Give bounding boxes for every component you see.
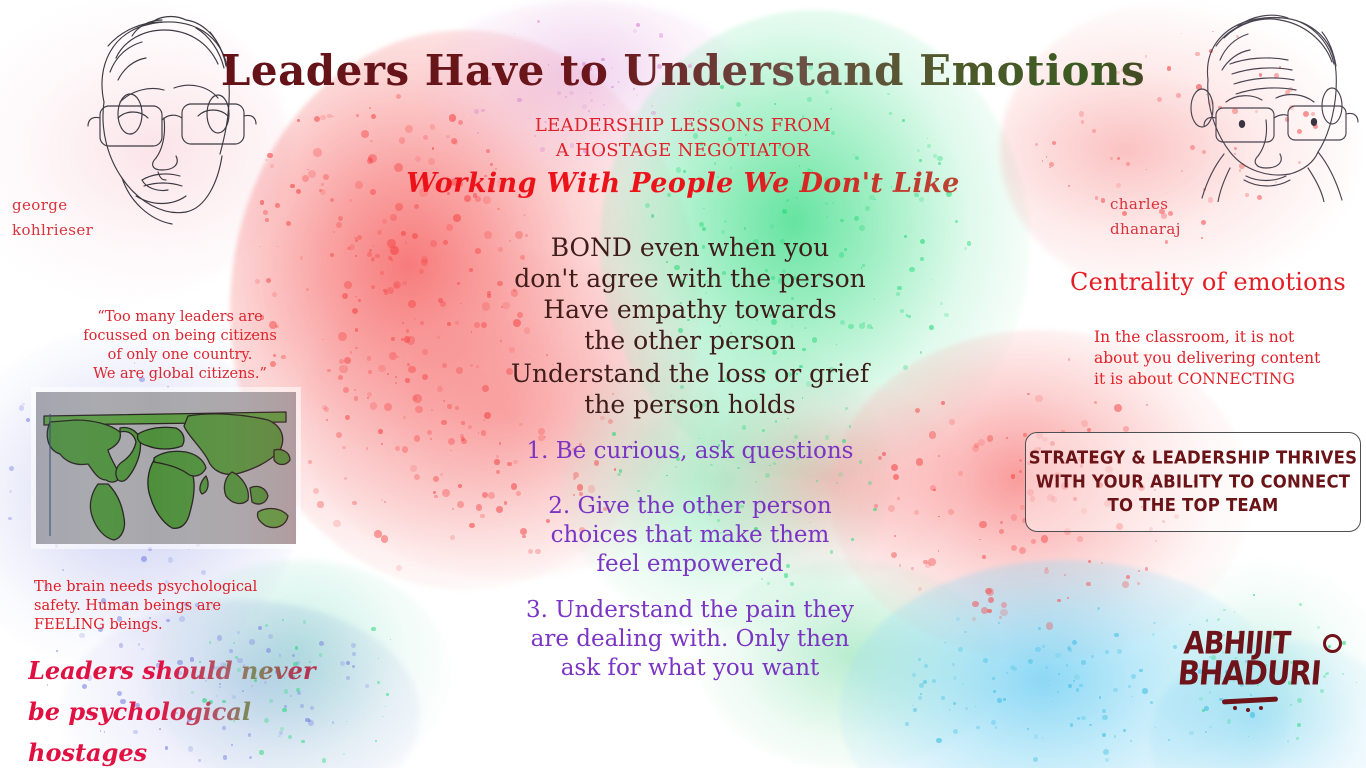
signature-circle-mark [1323,634,1342,653]
poster-canvas: Leaders Have to Understand Emotions LEAD… [0,0,1366,768]
wash-green-third [700,560,1000,768]
artist-signature: ABHIJIT BHADURI [1178,628,1353,710]
wash-green-second [560,330,890,630]
wash-green-large [600,10,1030,480]
portrait-charles-dhanaraj [1172,2,1366,202]
wash-red-large [230,30,700,590]
wash-red-middle [700,380,960,580]
signature-dots [1233,706,1267,711]
wash-teal-left [150,560,450,768]
portrait-george-kohlrieser [46,6,266,232]
signature-underline [1222,697,1278,705]
strategy-callout-text: STRATEGY & LEADERSHIP THRIVESWITH YOUR A… [1029,446,1357,517]
strategy-callout-box: STRATEGY & LEADERSHIP THRIVESWITH YOUR A… [1025,432,1361,532]
wash-violet-bottom-left [60,600,420,768]
world-map-sketch [36,392,296,544]
signature-line-2: BHADURI [1176,653,1322,692]
wash-pink-top [420,0,750,180]
wash-red-second [300,250,720,580]
